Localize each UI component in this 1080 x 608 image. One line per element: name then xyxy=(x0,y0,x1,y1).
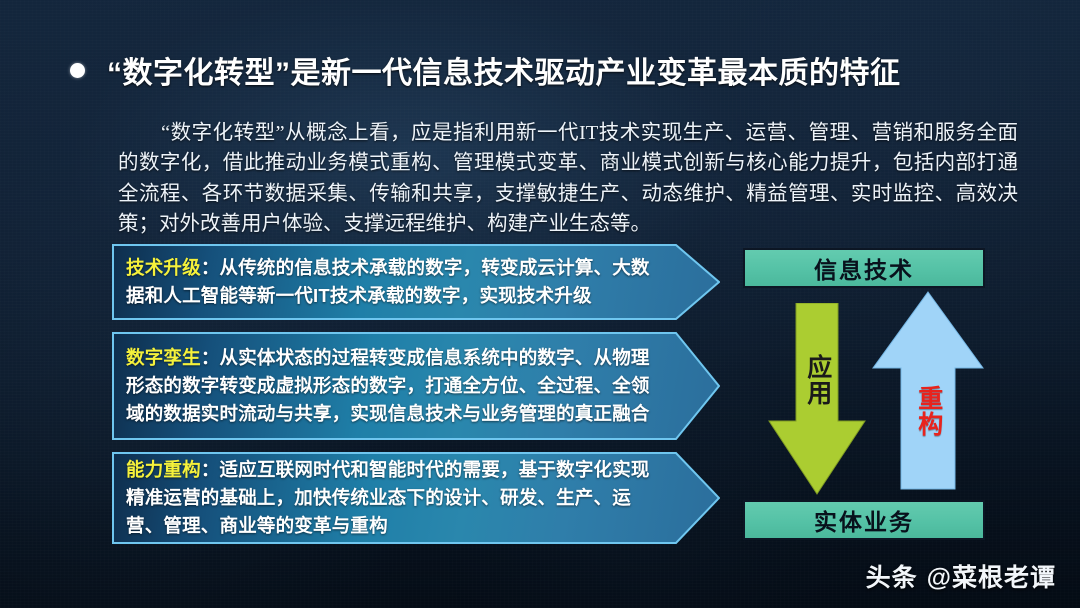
page-title-text: “数字化转型”是新一代信息技术驱动产业变革最本质的特征 xyxy=(107,48,901,92)
chevron-item-2-separator: ： xyxy=(201,347,220,368)
diagram-box-information-technology: 信息技术 xyxy=(743,248,985,288)
diagram-box-information-technology-label: 信息技术 xyxy=(814,251,914,285)
chevron-item-3-key: 能力重构 xyxy=(126,459,201,480)
chevron-item-2-key: 数字孪生 xyxy=(126,347,201,368)
arrow-down-icon: 应用 xyxy=(768,303,866,495)
diagram-box-physical-business-label: 实体业务 xyxy=(814,503,914,537)
diagram-box-physical-business: 实体业务 xyxy=(743,500,985,540)
watermark-handle: @菜根老谭 xyxy=(927,558,1056,594)
bullet-dot-icon xyxy=(70,63,85,78)
arrow-up-label: 重构 xyxy=(915,385,941,437)
chevron-item-3-separator: ： xyxy=(201,459,220,480)
page-title: “数字化转型”是新一代信息技术驱动产业变革最本质的特征 xyxy=(70,48,901,92)
lead-paragraph: “数字化转型”从概念上看，应是指利用新一代IT技术实现生产、运营、管理、营销和服… xyxy=(118,118,1018,239)
watermark: 头条 @菜根老谭 xyxy=(866,558,1056,594)
chevron-item-2-text: 数字孪生：从实体状态的过程转变成信息系统中的数字、从物理形态的数字转变成虚拟形态… xyxy=(126,344,662,427)
chevron-item-3: 能力重构：适应互联网时代和智能时代的需要，基于数字化实现精准运营的基础上，加快传… xyxy=(112,452,720,544)
arrow-down-label: 应用 xyxy=(804,354,830,406)
chevron-item-1: 技术升级：从传统的信息技术承载的数字，转变成云计算、大数据和人工智能等新一代IT… xyxy=(112,244,720,320)
slide-canvas: “数字化转型”是新一代信息技术驱动产业变革最本质的特征 “数字化转型”从概念上看… xyxy=(0,0,1080,608)
chevron-item-3-text: 能力重构：适应互联网时代和智能时代的需要，基于数字化实现精准运营的基础上，加快传… xyxy=(126,456,662,539)
chevron-item-1-text: 技术升级：从传统的信息技术承载的数字，转变成云计算、大数据和人工智能等新一代IT… xyxy=(126,254,662,310)
watermark-platform: 头条 xyxy=(866,558,918,594)
chevron-item-1-separator: ： xyxy=(201,257,220,278)
arrow-up-icon: 重构 xyxy=(872,290,984,490)
chevron-item-1-key: 技术升级 xyxy=(126,257,201,278)
chevron-item-2: 数字孪生：从实体状态的过程转变成信息系统中的数字、从物理形态的数字转变成虚拟形态… xyxy=(112,332,720,440)
